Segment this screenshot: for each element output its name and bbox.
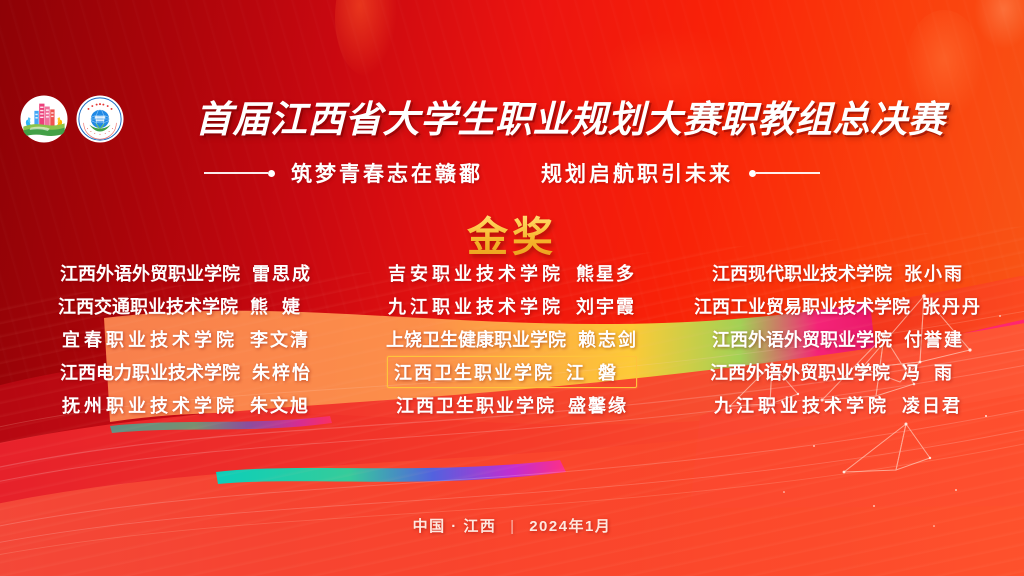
winner-name: 熊婕: [250, 293, 314, 319]
winners-column: 江西现代职业技术学院张小雨江西工业贸易职业技术学院张丹丹江西外语外贸职业学院付誉…: [682, 256, 994, 421]
winner-school: 江西外语外贸职业学院: [60, 260, 240, 286]
winner-name: 凌日君: [902, 392, 962, 418]
winner-row-inner: 江西卫生职业学院江磐: [387, 356, 637, 388]
winner-row-inner: 上饶卫生健康职业学院赖志剑: [379, 323, 645, 355]
page-title: 首届江西省大学生职业规划大赛职教组总决赛: [124, 101, 1024, 138]
winner-row: 江西现代职业技术学院张小雨: [682, 256, 994, 289]
winner-row: 江西电力职业技术学院朱梓怡: [30, 355, 342, 388]
winner-name: 李文清: [250, 326, 310, 352]
logo-group: [20, 95, 124, 143]
winner-row: 江西工业贸易职业技术学院张丹丹: [682, 289, 994, 322]
winner-school: 上饶卫生健康职业学院: [386, 326, 566, 352]
subtitle-right-phrase: 规划启航职引未来: [541, 158, 733, 188]
winner-row-inner: 江西电力职业技术学院朱梓怡: [53, 356, 319, 388]
winner-row: 上饶卫生健康职业学院赖志剑: [356, 322, 668, 355]
footer-separator: |: [510, 518, 515, 535]
jiangxi-education-buildings-logo: [20, 95, 68, 143]
winners-column: 江西外语外贸职业学院雷思成江西交通职业技术学院熊婕宜春职业技术学院李文清江西电力…: [30, 256, 342, 421]
winners-grid: 江西外语外贸职业学院雷思成江西交通职业技术学院熊婕宜春职业技术学院李文清江西电力…: [30, 256, 994, 421]
decorative-line-right: [749, 170, 820, 177]
winner-school: 江西卫生职业学院: [396, 392, 556, 418]
winner-row: 抚州职业技术学院朱文旭: [30, 388, 342, 421]
winner-row-inner: 宜春职业技术学院李文清: [55, 323, 317, 355]
winner-school: 江西外语外贸职业学院: [712, 326, 892, 352]
footer: 中国 · 江西 | 2024年1月: [0, 515, 1024, 536]
winner-row: 九江职业技术学院凌日君: [682, 388, 994, 421]
winner-name: 冯雨: [902, 359, 966, 385]
winner-row-inner: 江西外语外贸职业学院冯雨: [703, 356, 973, 388]
winner-row-inner: 吉安职业技术学院熊星多: [381, 257, 643, 289]
winner-name: 雷思成: [252, 260, 312, 286]
poster-header: 首届江西省大学生职业规划大赛职教组总决赛: [0, 88, 1024, 150]
award-heading: 金奖: [0, 203, 1024, 263]
winner-row-inner: 九江职业技术学院凌日君: [707, 389, 969, 421]
winner-name: 朱文旭: [250, 392, 310, 418]
winner-name: 赖志剑: [578, 326, 638, 352]
winner-row-inner: 九江职业技术学院刘宇霞: [381, 290, 643, 322]
winner-school: 江西外语外贸职业学院: [710, 359, 890, 385]
winner-name: 江磐: [566, 359, 630, 385]
winner-row-inner: 江西外语外贸职业学院雷思成: [53, 257, 319, 289]
winner-school: 抚州职业技术学院: [62, 392, 238, 418]
decorative-line-left: [204, 170, 275, 177]
winner-school: 九江职业技术学院: [388, 293, 564, 319]
winner-school: 宜春职业技术学院: [62, 326, 238, 352]
winner-row: 宜春职业技术学院李文清: [30, 322, 342, 355]
winner-school: 吉安职业技术学院: [388, 260, 564, 286]
winner-school: 江西卫生职业学院: [394, 359, 554, 385]
winner-name: 刘宇霞: [576, 293, 636, 319]
winner-school: 江西现代职业技术学院: [712, 260, 892, 286]
winner-school: 江西电力职业技术学院: [60, 359, 240, 385]
winner-name: 张小雨: [904, 260, 964, 286]
winner-name: 张丹丹: [922, 293, 982, 319]
jiangxi-university-globe-emblem: [76, 95, 124, 143]
winner-row: 吉安职业技术学院熊星多: [356, 256, 668, 289]
winner-name: 朱梓怡: [252, 359, 312, 385]
poster-canvas: 首届江西省大学生职业规划大赛职教组总决赛 筑梦青春志在赣鄱 规划启航职引未来 金…: [0, 0, 1024, 576]
winner-row: 江西外语外贸职业学院雷思成: [30, 256, 342, 289]
winner-row-inner: 江西现代职业技术学院张小雨: [705, 257, 971, 289]
winner-row-inner: 江西外语外贸职业学院付誉建: [705, 323, 971, 355]
winner-row: 江西外语外贸职业学院冯雨: [682, 355, 994, 388]
winners-column: 吉安职业技术学院熊星多九江职业技术学院刘宇霞上饶卫生健康职业学院赖志剑江西卫生职…: [356, 256, 668, 421]
winner-name: 熊星多: [576, 260, 636, 286]
winner-row-highlighted: 江西卫生职业学院江磐: [356, 355, 668, 388]
winner-row-inner: 江西交通职业技术学院熊婕: [51, 290, 321, 322]
subtitle-bar: 筑梦青春志在赣鄱 规划启航职引未来: [0, 158, 1024, 188]
winner-name: 盛馨缘: [568, 392, 628, 418]
winner-row-inner: 江西工业贸易职业技术学院张丹丹: [687, 290, 989, 322]
winner-school: 江西交通职业技术学院: [58, 293, 238, 319]
winner-school: 九江职业技术学院: [714, 392, 890, 418]
subtitle-left-phrase: 筑梦青春志在赣鄱: [291, 158, 483, 188]
winner-name: 付誉建: [904, 326, 964, 352]
winner-row: 九江职业技术学院刘宇霞: [356, 289, 668, 322]
winner-row: 江西外语外贸职业学院付誉建: [682, 322, 994, 355]
winner-row-inner: 江西卫生职业学院盛馨缘: [389, 389, 635, 421]
winner-row-inner: 抚州职业技术学院朱文旭: [55, 389, 317, 421]
winner-row: 江西卫生职业学院盛馨缘: [356, 388, 668, 421]
winner-school: 江西工业贸易职业技术学院: [694, 293, 910, 319]
winner-row: 江西交通职业技术学院熊婕: [30, 289, 342, 322]
footer-date: 2024年1月: [529, 518, 611, 535]
footer-location: 中国 · 江西: [413, 518, 497, 535]
